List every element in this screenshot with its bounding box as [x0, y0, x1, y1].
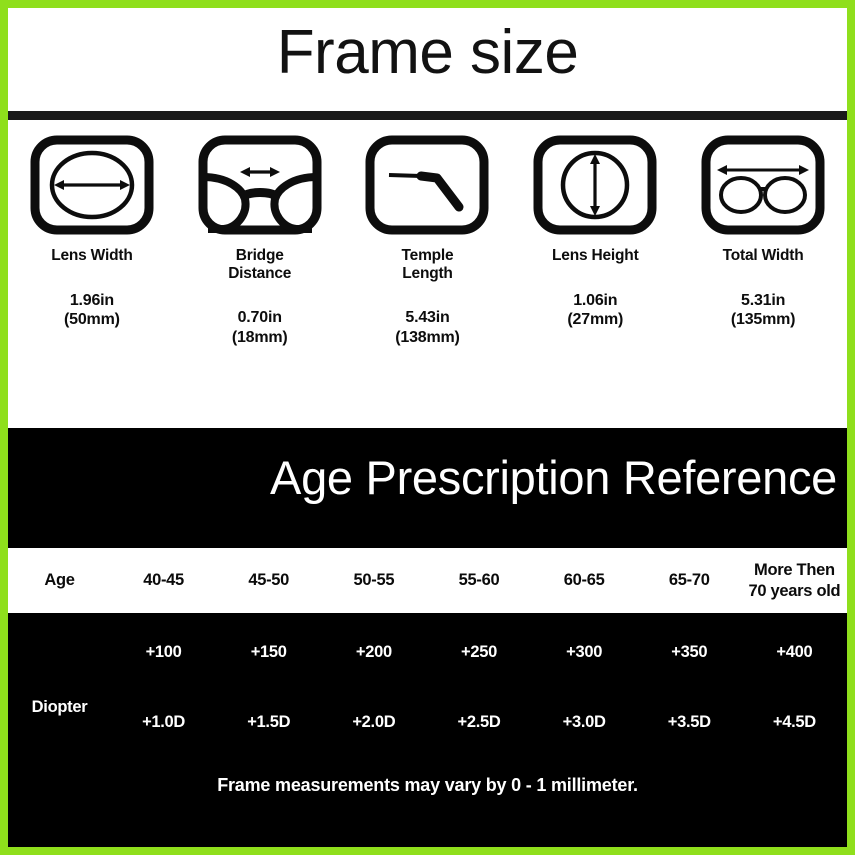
diopter-cell: +1.5D: [216, 713, 321, 732]
banner-title: Age Prescription Reference: [270, 454, 837, 501]
power-number-cell: +350: [637, 643, 742, 662]
spec-label: Bridge Distance: [176, 247, 344, 282]
frame-size-panel: Frame size Lens Width 1.96in (50: [8, 8, 847, 428]
power-number-cell: +400: [742, 643, 847, 662]
diopter-cell: +3.0D: [532, 713, 637, 732]
diopter-cell: +3.5D: [637, 713, 742, 732]
spec-value: 1.96in (50mm): [8, 291, 176, 329]
page-title: Frame size: [8, 22, 847, 84]
age-range-cell: 65-70: [637, 570, 742, 590]
spec-lens-height: Lens Height 1.06in (27mm): [511, 132, 679, 347]
spec-lens-width: Lens Width 1.96in (50mm): [8, 132, 176, 347]
spec-bridge-distance: Bridge Distance 0.70in (18mm): [176, 132, 344, 347]
spec-temple-length: Temple Length 5.43in (138mm): [344, 132, 512, 347]
diopter-value-row: +1.0D +1.5D +2.0D +2.5D +3.0D +3.5D +4.5…: [8, 713, 847, 732]
spec-label: Temple Length: [344, 247, 512, 282]
power-number-row: +100 +150 +200 +250 +300 +350 +400: [8, 643, 847, 662]
bridge-distance-icon: [176, 132, 344, 238]
age-range-cell: 45-50: [216, 570, 321, 590]
footnote: Frame measurements may vary by 0 - 1 mil…: [8, 775, 847, 796]
infographic-sheet: Frame size Lens Width 1.96in (50: [0, 0, 855, 855]
age-range-cell: 40-45: [111, 570, 216, 590]
lens-width-icon: [8, 132, 176, 238]
spec-total-width: Total Width 5.31in (135mm): [679, 132, 847, 347]
age-row-label: Age: [8, 570, 111, 590]
spec-grid: Lens Width 1.96in (50mm): [8, 132, 847, 347]
spec-label: Lens Height: [511, 247, 679, 265]
age-range-cell-last: More Then 70 years old: [742, 560, 847, 600]
diopter-cell: +2.5D: [426, 713, 531, 732]
age-prescription-banner: Age Prescription Reference: [8, 428, 847, 548]
power-number-cell: +200: [321, 643, 426, 662]
title-divider: [8, 111, 847, 120]
age-range-cell: 50-55: [321, 570, 426, 590]
diopter-cell: +2.0D: [321, 713, 426, 732]
spec-value: 5.43in (138mm): [344, 308, 512, 346]
spec-label: Total Width: [679, 247, 847, 265]
temple-length-icon: [344, 132, 512, 238]
age-range-cell: 60-65: [532, 570, 637, 590]
spec-value: 0.70in (18mm): [176, 308, 344, 346]
age-header-row: Age 40-45 45-50 50-55 55-60 60-65 65-70 …: [8, 548, 847, 613]
total-width-icon: [679, 132, 847, 238]
power-number-cell: +300: [532, 643, 637, 662]
lens-height-icon: [511, 132, 679, 238]
diopter-section: Diopter +100 +150 +200 +250 +300 +350 +4…: [8, 613, 847, 847]
power-number-cell: +250: [426, 643, 531, 662]
power-number-cell: +150: [216, 643, 321, 662]
diopter-cell: +4.5D: [742, 713, 847, 732]
spec-value: 5.31in (135mm): [679, 291, 847, 329]
spec-value: 1.06in (27mm): [511, 291, 679, 329]
power-number-cell: +100: [111, 643, 216, 662]
spec-label: Lens Width: [8, 247, 176, 265]
diopter-cell: +1.0D: [111, 713, 216, 732]
age-range-cell: 55-60: [426, 570, 531, 590]
